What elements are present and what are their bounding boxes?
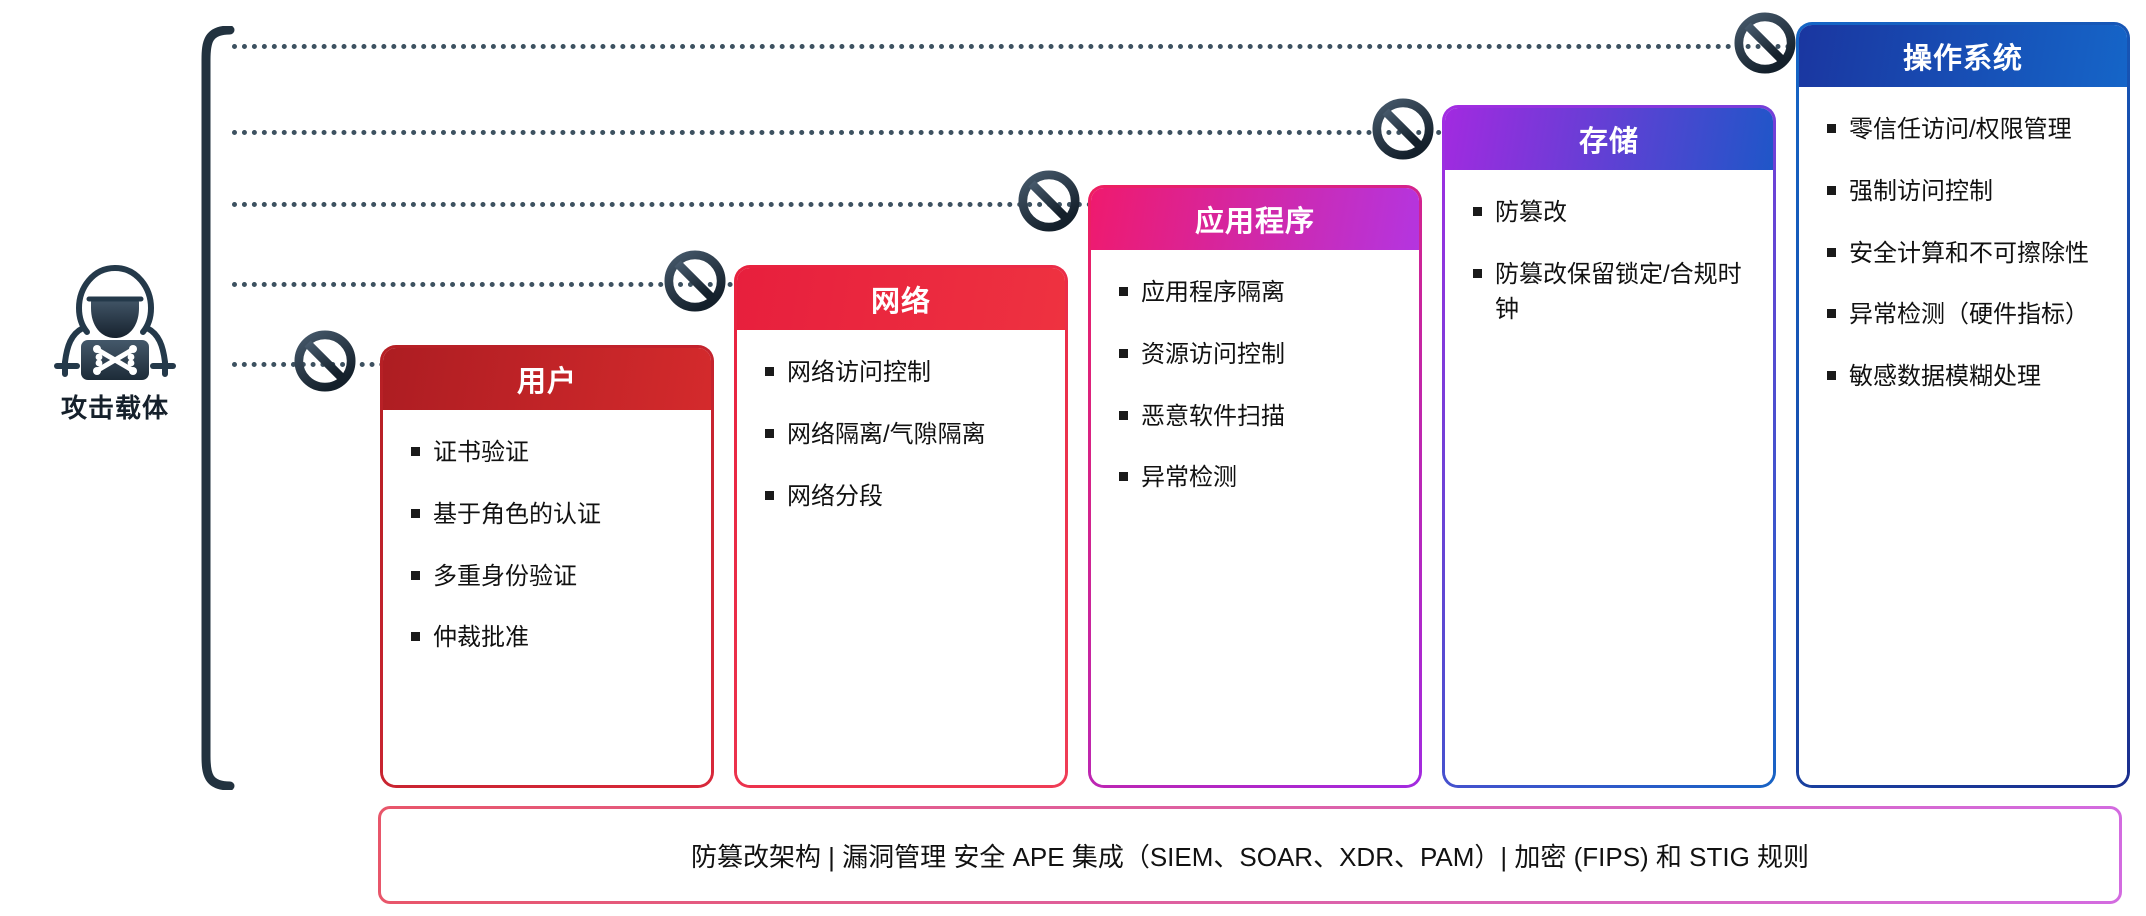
layer-card-title: 存储 <box>1579 118 1639 160</box>
prohibition-icon <box>1734 12 1796 74</box>
prohibition-icon <box>664 250 726 312</box>
layer-list-item-label: 网络分段 <box>787 480 883 515</box>
layer-list-item-label: 网络隔离/气隙隔离 <box>787 418 986 453</box>
layer-card-title: 操作系统 <box>1903 35 2023 77</box>
bullet-square-icon <box>1119 287 1128 296</box>
layer-list-item-label: 网络访问控制 <box>787 356 931 391</box>
layer-card-network[interactable]: 网络网络访问控制网络隔离/气隙隔离网络分段 <box>734 265 1068 788</box>
layer-list-item-label: 多重身份验证 <box>433 560 577 595</box>
layer-list-item: 仲裁批准 <box>405 621 691 656</box>
layer-list-item: 资源访问控制 <box>1113 338 1399 373</box>
bullet-square-icon <box>1473 207 1482 216</box>
prohibition-icon <box>1372 98 1434 160</box>
layer-card-title: 用户 <box>517 358 577 400</box>
layer-list-item-label: 异常检测 <box>1141 461 1237 496</box>
layer-list-item-label: 强制访问控制 <box>1849 175 1993 210</box>
layer-list-item-label: 安全计算和不可擦除性 <box>1849 237 2089 272</box>
bullet-square-icon <box>1827 248 1836 257</box>
layer-card-application[interactable]: 应用程序应用程序隔离资源访问控制恶意软件扫描异常检测 <box>1088 185 1422 788</box>
layer-card-storage[interactable]: 存储防篡改防篡改保留锁定/合规时钟 <box>1442 105 1776 788</box>
attack-line-os <box>232 44 1792 49</box>
bullet-square-icon <box>411 571 420 580</box>
bullet-square-icon <box>1119 411 1128 420</box>
layer-card-items: 防篡改防篡改保留锁定/合规时钟 <box>1445 170 1773 785</box>
layer-list-item: 强制访问控制 <box>1821 175 2107 210</box>
layer-list-item-label: 防篡改 <box>1495 196 1567 231</box>
layer-list-item: 异常检测 <box>1113 461 1399 496</box>
bullet-square-icon <box>411 447 420 456</box>
layer-list-item: 证书验证 <box>405 436 691 471</box>
layer-list-item-label: 异常检测（硬件指标） <box>1849 298 2089 333</box>
layer-list-item-label: 恶意软件扫描 <box>1141 400 1285 435</box>
layer-card-title: 应用程序 <box>1195 198 1315 240</box>
layer-card-title: 网络 <box>871 278 931 320</box>
layer-list-item: 网络隔离/气隙隔离 <box>759 418 1045 453</box>
layer-list-item: 防篡改 <box>1467 196 1753 231</box>
bullet-square-icon <box>765 367 774 376</box>
bullet-square-icon <box>411 509 420 518</box>
attack-vector-label: 攻击载体 <box>30 388 200 425</box>
prohibition-icon <box>1018 170 1080 232</box>
bullet-square-icon <box>765 491 774 500</box>
layer-card-items: 证书验证基于角色的认证多重身份验证仲裁批准 <box>383 410 711 785</box>
layer-list-item: 零信任访问/权限管理 <box>1821 113 2107 148</box>
layer-list-item: 防篡改保留锁定/合规时钟 <box>1467 258 1753 328</box>
layer-card-header: 应用程序 <box>1091 188 1419 250</box>
hacker-icon <box>49 262 181 380</box>
layer-card-header: 网络 <box>737 268 1065 330</box>
bullet-square-icon <box>1473 269 1482 278</box>
layer-list-item-label: 防篡改保留锁定/合规时钟 <box>1495 258 1753 328</box>
layer-card-header: 存储 <box>1445 108 1773 170</box>
bullet-square-icon <box>1827 371 1836 380</box>
attack-line-storage <box>232 130 1532 135</box>
bullet-square-icon <box>1119 349 1128 358</box>
layer-card-items: 零信任访问/权限管理强制访问控制安全计算和不可擦除性异常检测（硬件指标）敏感数据… <box>1799 87 2127 785</box>
foundation-banner-text: 防篡改架构 | 漏洞管理 安全 APE 集成（SIEM、SOAR、XDR、PAM… <box>691 837 1809 874</box>
layer-list-item-label: 仲裁批准 <box>433 621 529 656</box>
layer-card-items: 应用程序隔离资源访问控制恶意软件扫描异常检测 <box>1091 250 1419 785</box>
foundation-banner: 防篡改架构 | 漏洞管理 安全 APE 集成（SIEM、SOAR、XDR、PAM… <box>378 806 2122 904</box>
layer-list-item: 应用程序隔离 <box>1113 276 1399 311</box>
layer-card-os[interactable]: 操作系统零信任访问/权限管理强制访问控制安全计算和不可擦除性异常检测（硬件指标）… <box>1796 22 2130 788</box>
layer-list-item: 基于角色的认证 <box>405 498 691 533</box>
bullet-square-icon <box>765 429 774 438</box>
attack-bracket <box>196 26 236 790</box>
layer-card-user[interactable]: 用户证书验证基于角色的认证多重身份验证仲裁批准 <box>380 345 714 788</box>
attack-vector-group: 攻击载体 <box>30 262 200 425</box>
layer-card-items: 网络访问控制网络隔离/气隙隔离网络分段 <box>737 330 1065 785</box>
layer-list-item-label: 基于角色的认证 <box>433 498 601 533</box>
layer-list-item: 恶意软件扫描 <box>1113 400 1399 435</box>
prohibition-icon <box>294 330 356 392</box>
bullet-square-icon <box>1827 124 1836 133</box>
layer-list-item-label: 零信任访问/权限管理 <box>1849 113 2072 148</box>
layer-list-item-label: 资源访问控制 <box>1141 338 1285 373</box>
bullet-square-icon <box>411 632 420 641</box>
layer-card-header: 用户 <box>383 348 711 410</box>
bullet-square-icon <box>1827 186 1836 195</box>
layer-list-item: 异常检测（硬件指标） <box>1821 298 2107 333</box>
layer-list-item-label: 证书验证 <box>433 436 529 471</box>
layer-list-item: 网络访问控制 <box>759 356 1045 391</box>
layer-list-item: 网络分段 <box>759 480 1045 515</box>
layer-card-header: 操作系统 <box>1799 25 2127 87</box>
layer-list-item: 多重身份验证 <box>405 560 691 595</box>
bullet-square-icon <box>1827 309 1836 318</box>
layer-list-item: 安全计算和不可擦除性 <box>1821 237 2107 272</box>
layer-list-item-label: 应用程序隔离 <box>1141 276 1285 311</box>
bullet-square-icon <box>1119 472 1128 481</box>
layer-list-item: 敏感数据模糊处理 <box>1821 360 2107 395</box>
layer-list-item-label: 敏感数据模糊处理 <box>1849 360 2041 395</box>
